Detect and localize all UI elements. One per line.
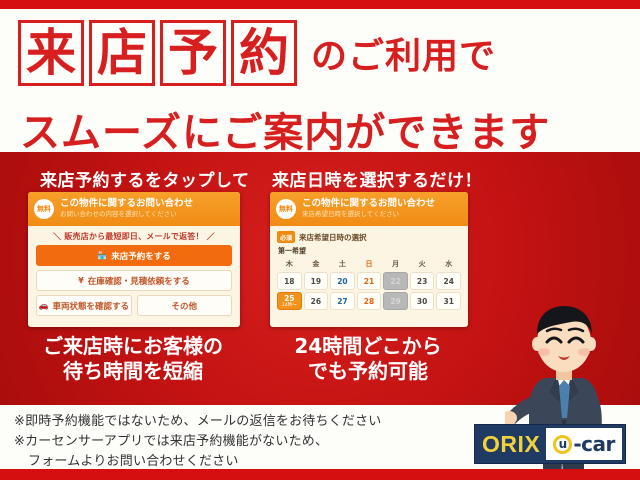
calendar-header-title: この物件に関するお問い合わせ — [302, 199, 435, 210]
left-caption: ご来店時にお客様の 待ち時間を短縮 — [18, 334, 248, 384]
right-panel-heading: 来店日時を選択するだけ！ — [272, 166, 482, 191]
required-chip: 必須 — [277, 231, 295, 243]
top-red-rule — [0, 0, 640, 9]
calendar-day-number: 23 — [417, 277, 427, 286]
free-badge: 無料 — [276, 199, 296, 219]
calendar-day-cell[interactable]: 23 — [410, 272, 435, 290]
calendar-day-number: 19 — [311, 277, 321, 286]
feature-band: 来店予約するをタップして 来店日時を選択するだけ！ 無料 この物件に関するお問い… — [0, 152, 640, 405]
calendar-day-number: 24 — [443, 277, 453, 286]
ucar-text: -car — [573, 432, 615, 456]
disclaimer-line-2: ※カーセンサーアプリでは来店予約機能がないため、 — [14, 432, 464, 452]
ucar-wordmark: u -car — [546, 428, 622, 460]
headline-tail: のご利用で — [311, 27, 496, 79]
calendar-day-cell: 22 — [383, 272, 408, 290]
calendar-day-number: 28 — [364, 297, 374, 306]
calendar-day-number: 31 — [443, 297, 453, 306]
reserve-visit-button[interactable]: 🏪 来店予約をする — [36, 245, 232, 266]
calendar-day-cell[interactable]: 31 — [436, 292, 461, 310]
advertisement-banner: 来 店 予 約 のご利用で スムーズにご案内ができます 来店予約するをタップして… — [0, 0, 640, 480]
mockup-header-title: この物件に関するお問い合わせ — [60, 199, 193, 210]
calendar-title: 来店希望日時の選択 — [299, 232, 367, 243]
left-caption-line-2: 待ち時間を短縮 — [18, 359, 248, 384]
mockup-header-subtitle: お問い合わせの内容を選択してください — [60, 211, 193, 219]
vehicle-condition-label: 車両状態を確認する — [52, 300, 129, 312]
reserve-visit-label: 来店予約をする — [111, 250, 171, 262]
calendar-day-number: 29 — [390, 297, 400, 306]
reply-note: ＼ 販売店から最短即日、メールで返答！ ／ — [28, 226, 240, 245]
calendar-mockup: 無料 この物件に関するお問い合わせ 来店希望日時を選択してください 必須 来店希… — [270, 192, 468, 327]
preference-label: 第一希望 — [278, 246, 461, 256]
mockup-header-texts: この物件に関するお問い合わせ お問い合わせの内容を選択してください — [60, 199, 193, 219]
weekday-header: 月 — [383, 259, 408, 270]
kanji-box-2: 店 — [89, 20, 155, 86]
weekday-header: 土 — [330, 259, 355, 270]
calendar-day-cell[interactable]: 2514時～ — [277, 292, 302, 310]
stock-quote-button[interactable]: ¥ 在庫確認・見積依頼をする — [36, 270, 232, 291]
left-caption-line-1: ご来店時にお客様の — [18, 334, 248, 359]
kanji-box-1: 来 — [18, 20, 84, 86]
right-caption-line-2: でも予約可能 — [262, 359, 474, 384]
calendar-day-cell[interactable]: 19 — [304, 272, 329, 290]
calendar-day-number: 26 — [311, 297, 321, 306]
calendar-grid: 木金土日月火水181920212223242514時～262728293031 — [277, 259, 461, 310]
weekday-header: 木 — [277, 259, 302, 270]
right-caption: 24時間どこから でも予約可能 — [262, 334, 474, 384]
calendar-mockup-header: 無料 この物件に関するお問い合わせ 来店希望日時を選択してください — [270, 192, 468, 226]
calendar-day-cell[interactable]: 24 — [436, 272, 461, 290]
calendar-day-number: 18 — [284, 277, 294, 286]
headline-row-2: スムーズにご案内ができます — [20, 100, 550, 158]
calendar-day-number: 27 — [337, 297, 347, 306]
mockup-header: 無料 この物件に関するお問い合わせ お問い合わせの内容を選択してください — [28, 192, 240, 226]
weekday-header: 金 — [304, 259, 329, 270]
headline-row-1: 来 店 予 約 のご利用で — [18, 20, 496, 86]
ucar-u-circle: u — [553, 435, 572, 454]
orix-ucar-logo: ORIX u -car — [474, 424, 626, 464]
calendar-day-number: 30 — [417, 297, 427, 306]
weekday-header: 水 — [436, 259, 461, 270]
right-caption-line-1: 24時間どこから — [262, 334, 474, 359]
calendar-day-cell: 29 — [383, 292, 408, 310]
car-icon: 🚗 — [39, 301, 49, 310]
calendar-day-cell[interactable]: 21 — [357, 272, 382, 290]
calendar-day-time: 14時～ — [282, 304, 297, 309]
calendar-day-number: 25 — [284, 294, 294, 303]
calendar-day-number: 20 — [337, 277, 347, 286]
calendar: 必須 来店希望日時の選択 第一希望 木金土日月火水181920212223242… — [270, 226, 468, 310]
vehicle-condition-button[interactable]: 🚗 車両状態を確認する — [36, 295, 132, 316]
orix-wordmark: ORIX — [478, 431, 546, 458]
inquiry-form-mockup: 無料 この物件に関するお問い合わせ お問い合わせの内容を選択してください ＼ 販… — [28, 192, 240, 327]
headline-block: 来 店 予 約 のご利用で スムーズにご案内ができます — [0, 12, 640, 150]
calendar-day-cell[interactable]: 30 — [410, 292, 435, 310]
bottom-red-rule — [0, 469, 640, 480]
weekday-header: 火 — [410, 259, 435, 270]
calendar-day-cell[interactable]: 18 — [277, 272, 302, 290]
calendar-title-row: 必須 来店希望日時の選択 — [277, 231, 461, 243]
secondary-button-row: 🚗 車両状態を確認する その他 — [36, 295, 232, 316]
disclaimer-line-1: ※即時予約機能ではないため、メールの返信をお待ちください — [14, 412, 464, 432]
disclaimer-text: ※即時予約機能ではないため、メールの返信をお待ちください ※カーセンサーアプリで… — [14, 412, 464, 472]
calendar-header-subtitle: 来店希望日時を選択してください — [302, 211, 435, 219]
calendar-day-number: 21 — [364, 277, 374, 286]
calendar-day-cell[interactable]: 27 — [330, 292, 355, 310]
left-panel-heading: 来店予約するをタップして — [40, 166, 250, 191]
stock-quote-label: 在庫確認・見積依頼をする — [88, 275, 190, 287]
calendar-header-texts: この物件に関するお問い合わせ 来店希望日時を選択してください — [302, 199, 435, 219]
other-button[interactable]: その他 — [137, 295, 233, 316]
kanji-box-3: 予 — [160, 20, 226, 86]
kanji-box-4: 約 — [231, 20, 297, 86]
other-label: その他 — [171, 300, 197, 312]
calendar-day-number: 22 — [390, 277, 400, 286]
weekday-header: 日 — [357, 259, 382, 270]
calendar-day-cell[interactable]: 26 — [304, 292, 329, 310]
calendar-day-cell[interactable]: 20 — [330, 272, 355, 290]
yen-icon: ¥ — [78, 276, 84, 285]
free-badge: 無料 — [34, 199, 54, 219]
store-icon: 🏪 — [97, 251, 107, 260]
calendar-day-cell[interactable]: 28 — [357, 292, 382, 310]
